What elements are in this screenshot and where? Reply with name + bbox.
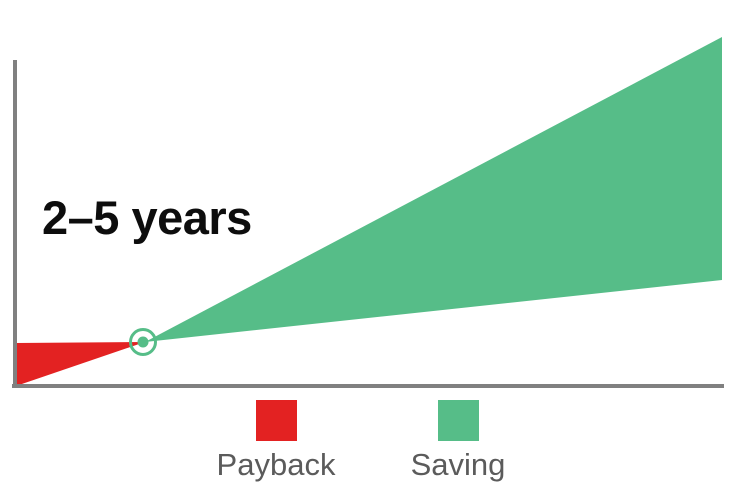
legend-item-payback[interactable]: Payback xyxy=(175,400,377,482)
chart-legend: Payback Saving xyxy=(0,400,732,490)
chart-container: 2–5 years Payback Saving xyxy=(0,0,732,499)
legend-label-saving: Saving xyxy=(411,449,506,482)
legend-item-saving[interactable]: Saving xyxy=(357,400,559,482)
breakeven-marker-dot xyxy=(138,337,149,348)
payback-area xyxy=(16,342,145,386)
payback-period-annotation: 2–5 years xyxy=(42,194,252,241)
legend-swatch-saving-icon xyxy=(438,400,479,441)
legend-label-payback: Payback xyxy=(217,449,336,482)
saving-area xyxy=(145,37,722,342)
legend-swatch-payback-icon xyxy=(256,400,297,441)
